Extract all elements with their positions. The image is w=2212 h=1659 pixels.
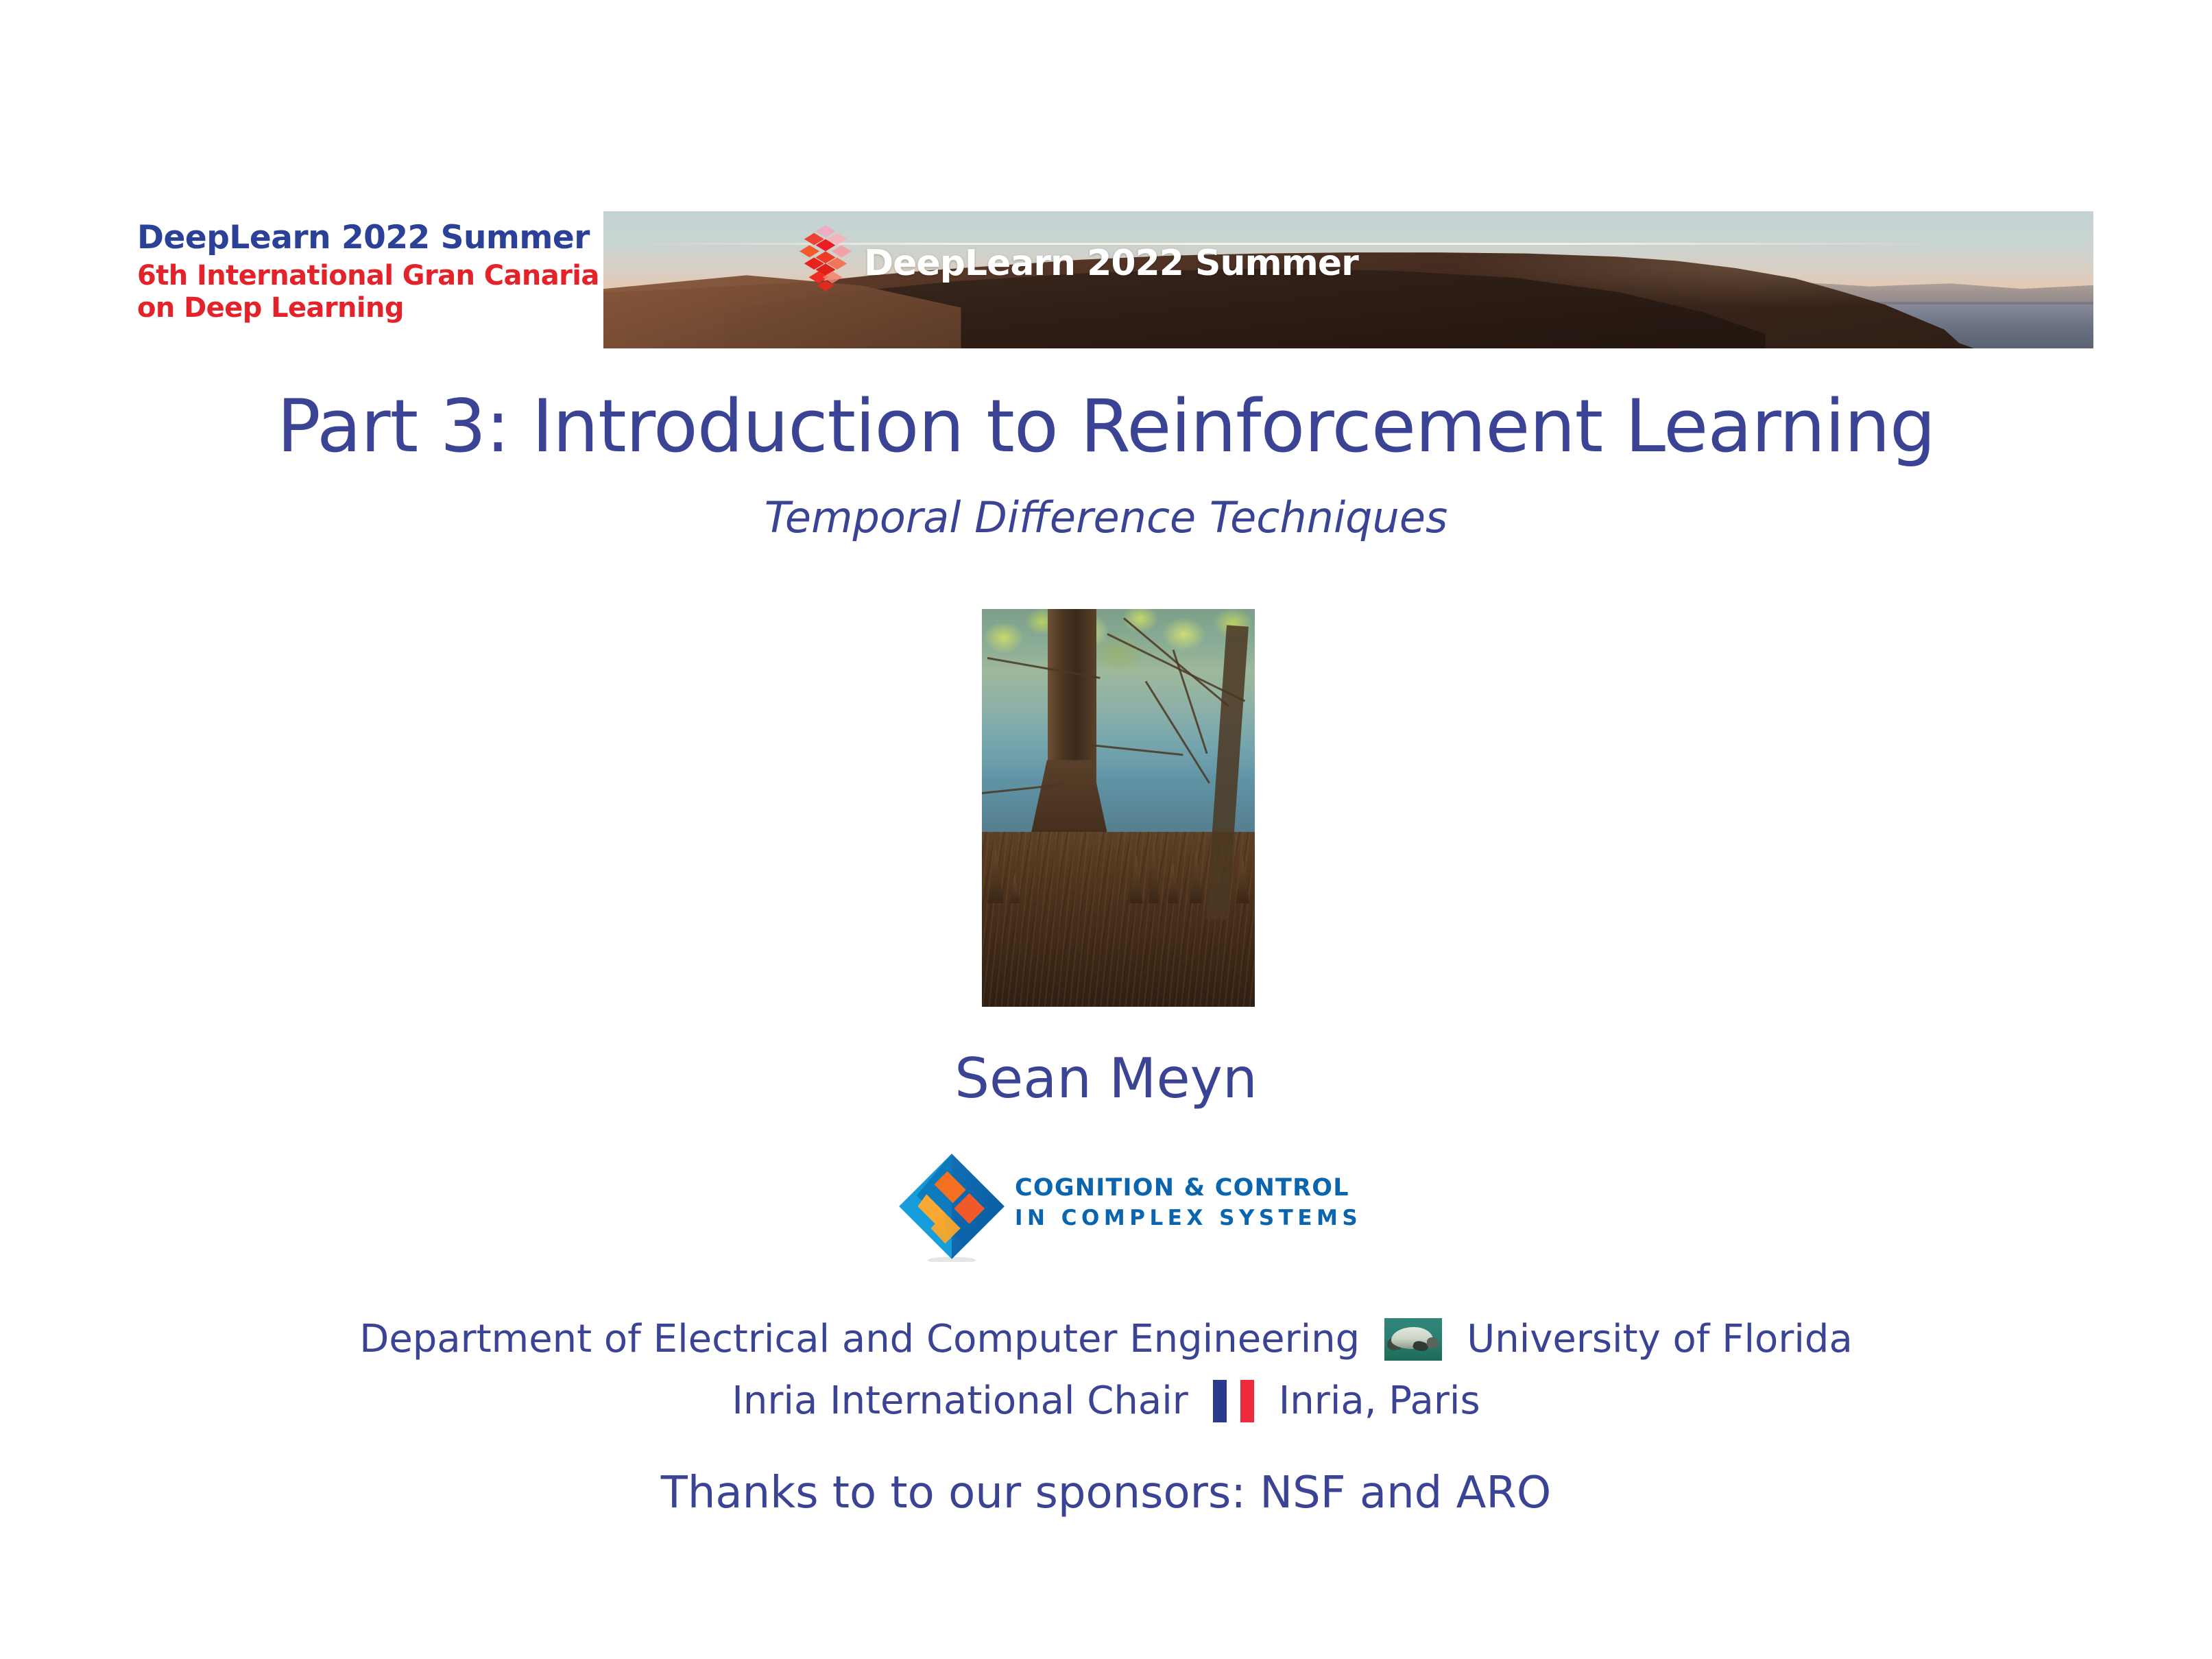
affiliation-chair: Inria International Chair	[732, 1378, 1188, 1423]
lab-logo-line-1: COGNITION & CONTROL	[1015, 1174, 1362, 1202]
cypress-swamp-photo	[982, 609, 1255, 1007]
school-title: DeepLearn 2022 Summer	[137, 219, 590, 256]
author-name: Sean Meyn	[0, 1047, 2212, 1110]
page-title: Part 3: Introduction to Reinforcement Le…	[0, 384, 2212, 468]
school-subtitle-line-1: 6th International Gran Canaria School	[137, 261, 590, 292]
lab-logo-wordmark: COGNITION & CONTROL IN COMPLEX SYSTEMS	[1015, 1174, 1362, 1230]
cognition-control-diamond-logo	[897, 1151, 1007, 1262]
school-subtitle-line-2: on Deep Learning	[137, 293, 590, 324]
affiliation-institute: Inria, Paris	[1279, 1378, 1480, 1423]
french-flag-icon	[1213, 1380, 1254, 1422]
lab-logo: COGNITION & CONTROL IN COMPLEX SYSTEMS	[891, 1149, 1330, 1266]
affiliation-row-inria: Inria International Chair Inria, Paris	[0, 1378, 2212, 1423]
sponsors-line: Thanks to to our sponsors: NSF and ARO	[0, 1468, 2212, 1518]
photo-branches	[982, 609, 1255, 1007]
affiliation-university: University of Florida	[1467, 1317, 1853, 1361]
manatee-icon	[1384, 1318, 1442, 1361]
affiliation-row-florida: Department of Electrical and Computer En…	[0, 1317, 2212, 1361]
affiliation-department: Department of Electrical and Computer En…	[359, 1317, 1360, 1361]
page-subtitle: Temporal Difference Techniques	[0, 492, 2212, 542]
school-header: DeepLearn 2022 Summer 6th International …	[137, 219, 590, 324]
banner-title: DeepLearn 2022 Summer	[864, 243, 1358, 284]
deeplearn-cube-logo	[799, 224, 852, 300]
slide-canvas: DeepLearn 2022 Summer 6th International …	[0, 0, 2212, 1659]
banner-photo: DeepLearn 2022 Summer	[603, 211, 2093, 348]
lab-logo-line-2: IN COMPLEX SYSTEMS	[1015, 1206, 1362, 1230]
